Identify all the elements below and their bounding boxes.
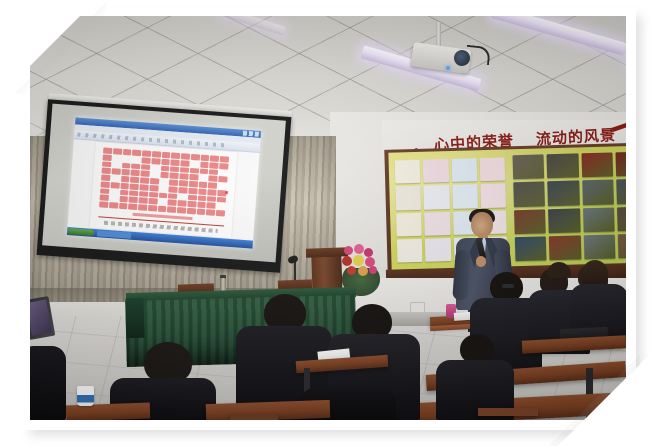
document-glyph xyxy=(151,165,160,171)
document-glyph xyxy=(151,158,160,164)
document-glyph xyxy=(112,162,121,168)
document-glyph xyxy=(168,200,177,206)
blue-paper-cup xyxy=(77,386,94,406)
document-glyph xyxy=(218,176,227,182)
document-glyph xyxy=(217,197,226,203)
document-glyph xyxy=(178,187,187,193)
document-glyph xyxy=(119,203,128,209)
document-glyph xyxy=(160,172,169,178)
document-glyph xyxy=(132,156,141,162)
document-glyph xyxy=(102,161,111,167)
eyeglasses-icon xyxy=(502,284,514,288)
document-glyph xyxy=(152,151,161,157)
document-glyph xyxy=(157,206,166,212)
document-glyph xyxy=(181,153,190,159)
document-glyph xyxy=(141,157,150,163)
board-photo-item xyxy=(548,208,580,233)
document-glyph xyxy=(177,207,186,213)
document-glyph xyxy=(158,199,167,205)
document-glyph xyxy=(220,156,229,162)
document-glyph xyxy=(122,149,131,155)
document-glyph xyxy=(103,147,112,153)
certificate-item xyxy=(424,185,450,209)
document-glyph xyxy=(111,175,120,181)
document-glyph xyxy=(199,175,208,181)
certificate-item xyxy=(395,186,421,210)
document-glyph xyxy=(130,177,139,183)
document-glyph xyxy=(198,188,207,194)
document-glyph xyxy=(149,192,158,198)
board-photo-item xyxy=(514,209,546,234)
document-glyph xyxy=(197,195,206,201)
document-glyph xyxy=(200,161,209,167)
document-glyph xyxy=(208,182,217,188)
board-photo-item xyxy=(547,153,579,178)
board-photo-item xyxy=(515,236,547,261)
document-glyph xyxy=(171,159,180,165)
document-glyph xyxy=(209,176,218,182)
document-stamp-icon: ▣ xyxy=(225,189,229,194)
document-glyph xyxy=(132,150,141,156)
document-glyph xyxy=(140,171,149,177)
document-glyph xyxy=(161,152,170,158)
certificate-item xyxy=(425,238,451,262)
document-glyph xyxy=(191,154,200,160)
document-glyph xyxy=(207,203,216,209)
board-photo-item xyxy=(549,235,581,260)
document-glyph xyxy=(160,165,169,171)
document-glyph xyxy=(128,204,137,210)
document-glyph xyxy=(138,198,147,204)
document-glyph xyxy=(190,167,199,173)
board-photo-item xyxy=(582,180,614,205)
document-glyph xyxy=(189,181,198,187)
document-glyph xyxy=(141,164,150,170)
document-chinese-text xyxy=(99,147,229,216)
document-glyph xyxy=(120,189,129,195)
document-glyph xyxy=(99,202,108,208)
document-glyph xyxy=(209,169,218,175)
flower-arrangement xyxy=(340,244,382,288)
document-glyph xyxy=(142,150,151,156)
document-glyph xyxy=(103,154,112,160)
document-glyph xyxy=(196,209,205,215)
board-photo-item xyxy=(618,233,626,258)
document-glyph xyxy=(180,160,189,166)
document-glyph xyxy=(177,201,186,207)
certificate-item xyxy=(451,158,477,182)
document-glyph xyxy=(150,178,159,184)
document-glyph xyxy=(190,161,199,167)
document-glyph xyxy=(170,166,179,172)
projection-screen-surface: ▣ xyxy=(42,104,286,263)
document-glyph xyxy=(149,185,158,191)
document-glyph xyxy=(110,182,119,188)
document-glyph xyxy=(100,188,109,194)
document-glyph xyxy=(218,183,227,189)
start-button-icon xyxy=(68,228,94,236)
document-glyph xyxy=(111,168,120,174)
document-glyph xyxy=(180,167,189,173)
document-glyph xyxy=(159,186,168,192)
document-glyph xyxy=(138,204,147,210)
document-glyph xyxy=(208,189,217,195)
tablecloth-drape xyxy=(125,298,144,338)
document-glyph xyxy=(110,189,119,195)
document-glyph xyxy=(168,193,177,199)
document-glyph xyxy=(101,175,110,181)
screenshot-root: 心中的荣誉流动的风景 xyxy=(0,0,652,448)
certificate-item xyxy=(480,184,506,208)
document-glyph xyxy=(131,170,140,176)
document-glyph xyxy=(100,195,109,201)
document-glyph xyxy=(102,168,111,174)
document-glyph xyxy=(113,148,122,154)
document-glyph xyxy=(139,191,148,197)
document-glyph xyxy=(207,196,216,202)
document-glyph xyxy=(216,203,225,209)
document-glyph xyxy=(161,159,170,165)
document-glyph xyxy=(169,186,178,192)
document-glyph xyxy=(210,162,219,168)
board-photo-item xyxy=(617,206,626,231)
document-glyph xyxy=(179,173,188,179)
document-glyph xyxy=(119,196,128,202)
board-photo-item xyxy=(583,234,615,259)
document-glyph xyxy=(198,182,207,188)
document-glyph xyxy=(171,152,180,158)
document-glyph xyxy=(130,183,139,189)
document-glyph xyxy=(129,190,138,196)
document-glyph xyxy=(199,168,208,174)
projected-application-window: ▣ xyxy=(67,117,261,248)
document-glyph xyxy=(140,177,149,183)
document-glyph xyxy=(189,174,198,180)
document-glyph xyxy=(148,198,157,204)
document-glyph xyxy=(122,156,131,162)
document-glyph xyxy=(139,184,148,190)
document-glyph xyxy=(187,201,196,207)
document-glyph xyxy=(178,194,187,200)
certificate-item xyxy=(479,157,505,181)
document-glyph xyxy=(121,176,130,182)
document-glyph xyxy=(121,169,130,175)
audience-torso-edge xyxy=(30,346,66,420)
document-glyph xyxy=(129,197,138,203)
document-glyph xyxy=(109,202,118,208)
document-glyph xyxy=(219,163,228,169)
certificate-item xyxy=(395,160,421,184)
board-photo-item xyxy=(548,181,580,206)
chair-back xyxy=(230,414,278,420)
chair-back xyxy=(478,408,538,416)
document-glyph xyxy=(148,205,157,211)
document-glyph xyxy=(120,183,129,189)
certificate-item xyxy=(452,184,478,208)
document-glyph xyxy=(206,209,215,215)
document-glyph xyxy=(109,195,118,201)
document-glyph xyxy=(187,208,196,214)
board-photo-item xyxy=(583,207,615,232)
document-glyph xyxy=(179,180,188,186)
photo-grid xyxy=(513,152,626,262)
document-glyph xyxy=(197,202,206,208)
document-glyph xyxy=(216,210,225,216)
document-glyph xyxy=(170,173,179,179)
conference-room-photo: 心中的荣誉流动的风景 xyxy=(30,16,626,420)
board-photo-item xyxy=(513,182,545,207)
document-glyph xyxy=(188,194,197,200)
document-glyph xyxy=(112,155,121,161)
document-glyph xyxy=(101,181,110,187)
document-glyph xyxy=(167,207,176,213)
document-glyph xyxy=(210,155,219,161)
document-glyph xyxy=(122,162,131,168)
taskbar-window-item xyxy=(97,230,131,238)
board-photo-item xyxy=(581,152,613,177)
document-glyph xyxy=(200,155,209,161)
board-photo-item xyxy=(513,154,545,179)
document-page: ▣ xyxy=(90,142,238,238)
board-photo-item xyxy=(616,179,626,204)
certificate-item xyxy=(396,212,422,236)
certificate-item xyxy=(423,159,449,183)
projector-mount-pole xyxy=(436,22,441,48)
speaker-hand xyxy=(476,256,486,267)
board-photo-item xyxy=(615,152,626,177)
document-glyph xyxy=(131,163,140,169)
document-glyph xyxy=(150,171,159,177)
certificate-item xyxy=(424,212,450,236)
document-glyph xyxy=(159,179,168,185)
document-glyph xyxy=(188,188,197,194)
document-glyph xyxy=(169,180,178,186)
document-glyph xyxy=(158,192,167,198)
document-glyph xyxy=(219,170,228,176)
projector-led-icon xyxy=(446,66,450,70)
certificate-item xyxy=(397,239,423,263)
